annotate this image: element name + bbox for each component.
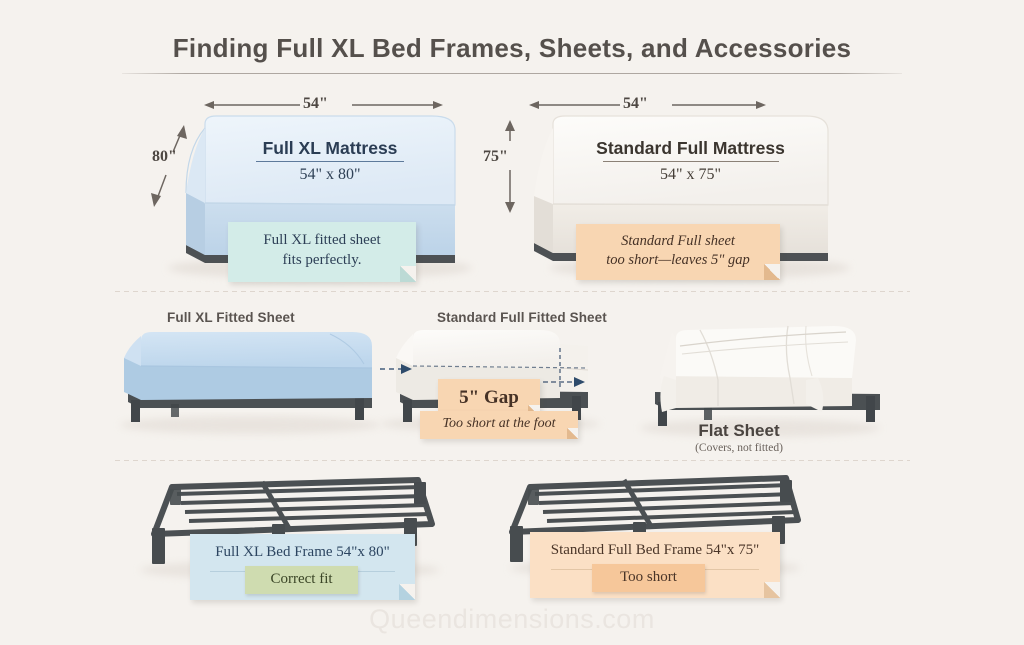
standard-full-fitted-sheet-heading: Standard Full Fitted Sheet bbox=[437, 310, 607, 325]
full-xl-fitted-sheet-illustration bbox=[120, 332, 380, 434]
standard-full-mattress-title: Standard Full Mattress bbox=[553, 138, 828, 159]
standard-full-mattress-caption: Standard Full Mattress 54" x 75" bbox=[553, 138, 828, 184]
callout-fold-corner bbox=[764, 264, 780, 280]
callout-fold-corner bbox=[400, 266, 416, 282]
full-xl-title-underline bbox=[256, 161, 404, 162]
site-watermark: Queendimensions.com bbox=[0, 604, 1024, 635]
standard-full-length-label: 75" bbox=[483, 148, 508, 166]
full-xl-width-label: 54" bbox=[303, 95, 328, 113]
full-xl-length-label: 80" bbox=[152, 148, 177, 166]
standard-full-callout-line1: Standard Full sheet bbox=[582, 232, 774, 251]
full-xl-mattress-dimensions: 54" x 80" bbox=[205, 166, 455, 184]
standard-full-mattress-dimensions: 54" x 75" bbox=[553, 166, 828, 184]
too-short-foot-text: Too short at the foot bbox=[442, 416, 555, 431]
gap-label: 5" Gap bbox=[459, 387, 519, 408]
callout-fold-corner bbox=[567, 428, 578, 439]
full-xl-frame-label: Full XL Bed Frame 54"x 80" bbox=[215, 544, 390, 560]
full-xl-mattress-title: Full XL Mattress bbox=[205, 138, 455, 159]
standard-full-frame-label: Standard Full Bed Frame 54"x 75" bbox=[551, 542, 759, 558]
too-short-foot-note: Too short at the foot bbox=[420, 411, 578, 439]
infographic-canvas: Finding Full XL Bed Frames, Sheets, and … bbox=[0, 0, 1024, 645]
standard-full-sheet-callout: Standard Full sheet too short—leaves 5" … bbox=[576, 224, 780, 280]
full-xl-fitted-sheet-callout: Full XL fitted sheet fits perfectly. bbox=[228, 222, 416, 282]
full-xl-callout-line2: fits perfectly. bbox=[234, 251, 410, 271]
flat-sheet-note: (Covers, not fitted) bbox=[644, 442, 834, 454]
standard-full-frame-verdict: Too short bbox=[592, 564, 705, 592]
full-xl-fitted-sheet-heading: Full XL Fitted Sheet bbox=[167, 310, 295, 325]
standard-full-width-label: 54" bbox=[623, 95, 648, 113]
full-xl-mattress-caption: Full XL Mattress 54" x 80" bbox=[205, 138, 455, 184]
full-xl-frame-verdict: Correct fit bbox=[245, 566, 358, 594]
full-xl-callout-line1: Full XL fitted sheet bbox=[234, 231, 410, 251]
callout-fold-corner bbox=[764, 582, 780, 598]
standard-full-title-underline bbox=[603, 161, 779, 162]
standard-full-callout-line2: too short—leaves 5" gap bbox=[582, 251, 774, 270]
callout-fold-corner bbox=[399, 584, 415, 600]
flat-sheet-heading: Flat Sheet bbox=[644, 421, 834, 441]
